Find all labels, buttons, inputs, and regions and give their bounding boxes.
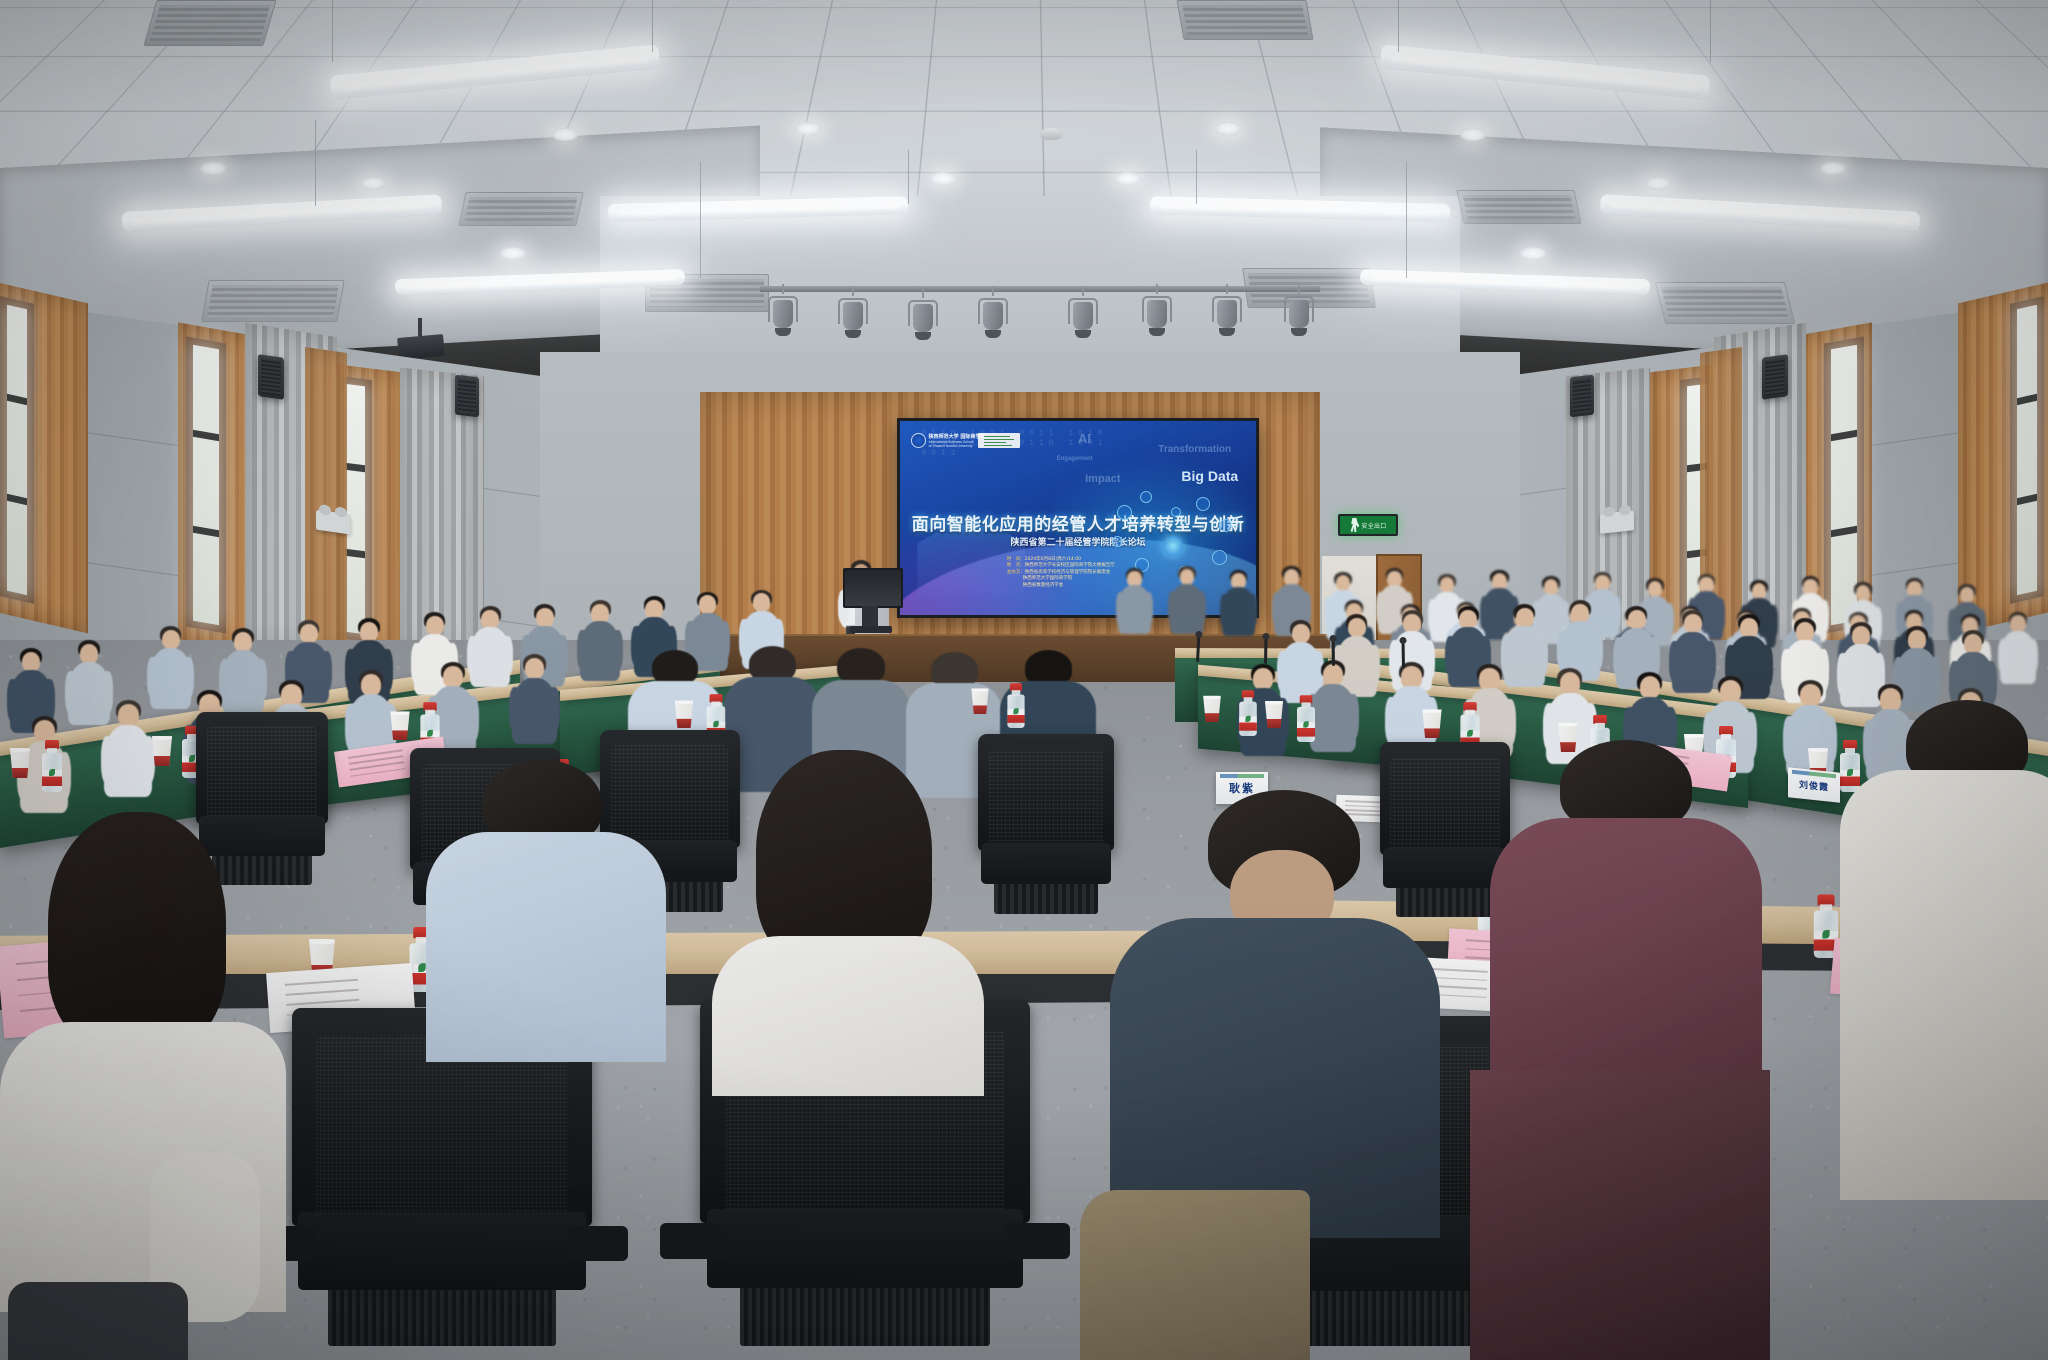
- window: [186, 336, 226, 633]
- wall-speaker: [455, 375, 479, 418]
- wood-slat-panel: [305, 347, 347, 653]
- window: [0, 296, 34, 604]
- meta-value-0: 2024年6月8日(周六)14:00: [1025, 557, 1081, 562]
- running-man-icon: [1349, 518, 1359, 532]
- light-suspension-wire: [1406, 162, 1407, 278]
- attendee: [2000, 612, 2036, 684]
- screen-word-ai: AI: [1078, 431, 1091, 446]
- stage-spotlight: [978, 294, 1008, 338]
- screen-word-engagement: Engagement: [1057, 456, 1093, 462]
- attendee-foreground-edge: [1840, 700, 2048, 1200]
- light-suspension-wire: [332, 0, 333, 62]
- smoke-detector-icon: [1040, 128, 1062, 140]
- recessed-downlight: [1215, 122, 1241, 135]
- attendee-foreground-left: [0, 812, 300, 1360]
- stage-spotlight: [1212, 292, 1242, 336]
- microphone: [1264, 638, 1267, 664]
- screen-word-transformation: Transformation: [1158, 444, 1231, 455]
- recessed-downlight: [1520, 247, 1546, 260]
- stage-spotlight: [1068, 294, 1098, 338]
- meta-label-1: 地 点：: [1007, 563, 1025, 568]
- wall-speaker: [1762, 354, 1788, 400]
- screen-event-details: 时 间：2024年6月8日(周六)14:00 地 点：陕西师范大学长安校区国际商…: [1007, 557, 1115, 590]
- water-bottle: [42, 740, 62, 792]
- meta-value-4: 陕西省数量经济学会: [1023, 583, 1064, 588]
- ac-vent: [201, 280, 344, 322]
- light-suspension-wire: [1398, 0, 1399, 52]
- meta-label-2: 主办方：: [1007, 570, 1025, 575]
- monitor-base: [850, 626, 892, 633]
- microphone: [1332, 640, 1335, 666]
- attendee: [1310, 660, 1356, 752]
- ac-vent: [1176, 0, 1313, 40]
- recessed-downlight: [1645, 177, 1671, 190]
- stage-spotlight: [768, 292, 798, 336]
- attendee: [1222, 570, 1255, 636]
- screen-logo-card: [978, 433, 1020, 448]
- presentation-screen[interactable]: 0110 1001 0011 1010 0101 1100 0110 1001 …: [897, 418, 1259, 618]
- water-bottle: [1297, 695, 1315, 742]
- stage-spotlight: [1142, 292, 1172, 336]
- exit-sign: 安全出口: [1338, 514, 1398, 536]
- water-bottle: [1239, 690, 1257, 736]
- attendee-foreground-center: [712, 750, 990, 1090]
- attendee: [580, 600, 620, 681]
- attendee: [470, 606, 510, 687]
- meta-value-1: 陕西师范大学长安校区国际商学院大楼报告厅: [1025, 563, 1115, 568]
- water-bottle: [1007, 683, 1024, 728]
- recessed-downlight: [1820, 162, 1846, 175]
- ac-vent: [1456, 190, 1581, 224]
- window: [2010, 296, 2044, 604]
- screen-word-big-data: Big Data: [1181, 468, 1238, 484]
- exit-sign-label: 安全出口: [1361, 521, 1386, 530]
- recessed-downlight: [1460, 128, 1486, 141]
- attendee: [512, 654, 557, 744]
- university-seal-icon: [911, 433, 926, 448]
- recessed-downlight: [795, 122, 821, 135]
- attendee: [1170, 566, 1204, 634]
- ac-vent: [1655, 282, 1795, 324]
- stage-spotlight: [838, 294, 868, 338]
- logo-chinese-name: 陕西师范大学 国际商学院: [929, 433, 986, 440]
- recessed-downlight: [930, 172, 956, 185]
- meta-value-2: 陕西省高等学校经济与管理学院院长联席会: [1025, 570, 1111, 575]
- ac-vent: [458, 192, 583, 226]
- recessed-downlight: [200, 162, 226, 175]
- attendee: [104, 700, 152, 797]
- emergency-light: [1600, 510, 1634, 534]
- light-suspension-wire: [652, 0, 653, 52]
- attendee: [1118, 568, 1151, 634]
- attendee-foreground-far-right: [1470, 740, 1770, 1360]
- microphone: [1402, 642, 1405, 668]
- conference-room-photo: 安全出口 安全出口 0110 1001 0011 1010 0101 1100 …: [0, 0, 2048, 1360]
- screen-institution-logo: 陕西师范大学 国际商学院 International Business Scho…: [911, 433, 986, 449]
- monitor-stand: [862, 606, 878, 628]
- podium-monitor[interactable]: [843, 568, 903, 608]
- wall-speaker: [1570, 375, 1594, 418]
- placard-name: 刘俊霞: [1799, 777, 1829, 793]
- meta-label-0: 时 间：: [1007, 557, 1025, 562]
- attendee-foreground-blue-shirt: [420, 760, 672, 1060]
- light-suspension-wire: [315, 120, 316, 206]
- recessed-downlight: [1115, 172, 1141, 185]
- light-suspension-wire: [700, 162, 701, 278]
- light-suspension-wire: [1196, 150, 1197, 204]
- attendee-foreground-right: [1080, 790, 1440, 1360]
- recessed-downlight: [552, 128, 578, 141]
- light-suspension-wire: [908, 150, 909, 204]
- ac-vent: [143, 0, 276, 46]
- light-suspension-wire: [1710, 0, 1711, 62]
- recessed-downlight: [360, 177, 386, 190]
- recessed-downlight: [500, 247, 526, 260]
- meta-value-3: 陕西师范大学国际商学院: [1023, 576, 1073, 581]
- wall-speaker: [258, 354, 284, 400]
- stage-spotlight: [1284, 292, 1314, 336]
- stage-spotlight: [908, 296, 938, 340]
- logo-english-line2: of Shaanxi Normal University: [929, 444, 986, 448]
- name-placard: 刘俊霞: [1788, 767, 1840, 802]
